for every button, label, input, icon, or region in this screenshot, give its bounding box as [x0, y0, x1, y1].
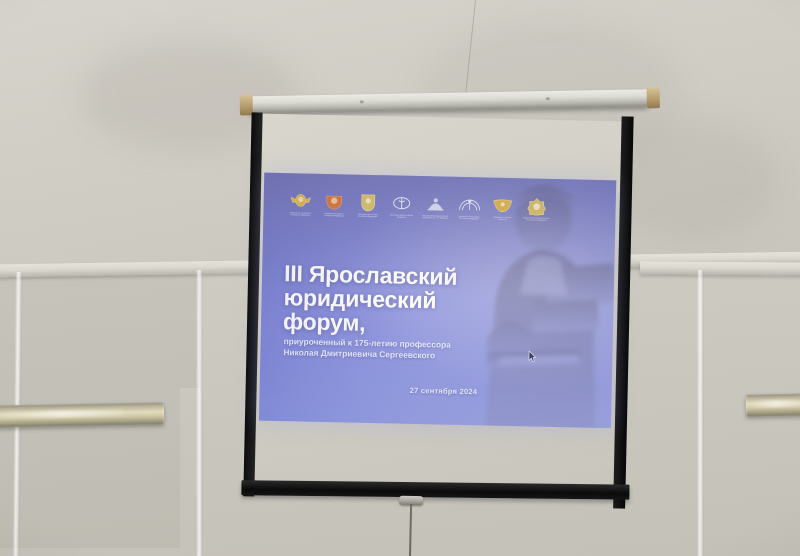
wall-metal-strip-right: [746, 393, 800, 416]
room-photo-scene: Генеральная прокуратура Российской Федер…: [0, 0, 800, 556]
wall-smudge: [0, 268, 200, 388]
wall-panel-seam: [196, 270, 203, 556]
metal-strip-highlight: [2, 409, 123, 419]
projector-screen[interactable]: Генеральная прокуратура Российской Федер…: [227, 96, 656, 513]
slide-vignette: [259, 173, 616, 429]
metal-strip-highlight: [750, 399, 800, 407]
projected-slide: Генеральная прокуратура Российской Федер…: [259, 173, 616, 429]
wall-panel-seam: [697, 270, 704, 556]
wall-metal-strip-left: [0, 402, 164, 427]
wall-molding-right: [640, 261, 800, 275]
screen-bottom-bar: [241, 480, 629, 499]
housing-screw: [360, 100, 364, 103]
housing-screw: [546, 97, 550, 100]
housing-end-cap-right: [647, 87, 660, 108]
